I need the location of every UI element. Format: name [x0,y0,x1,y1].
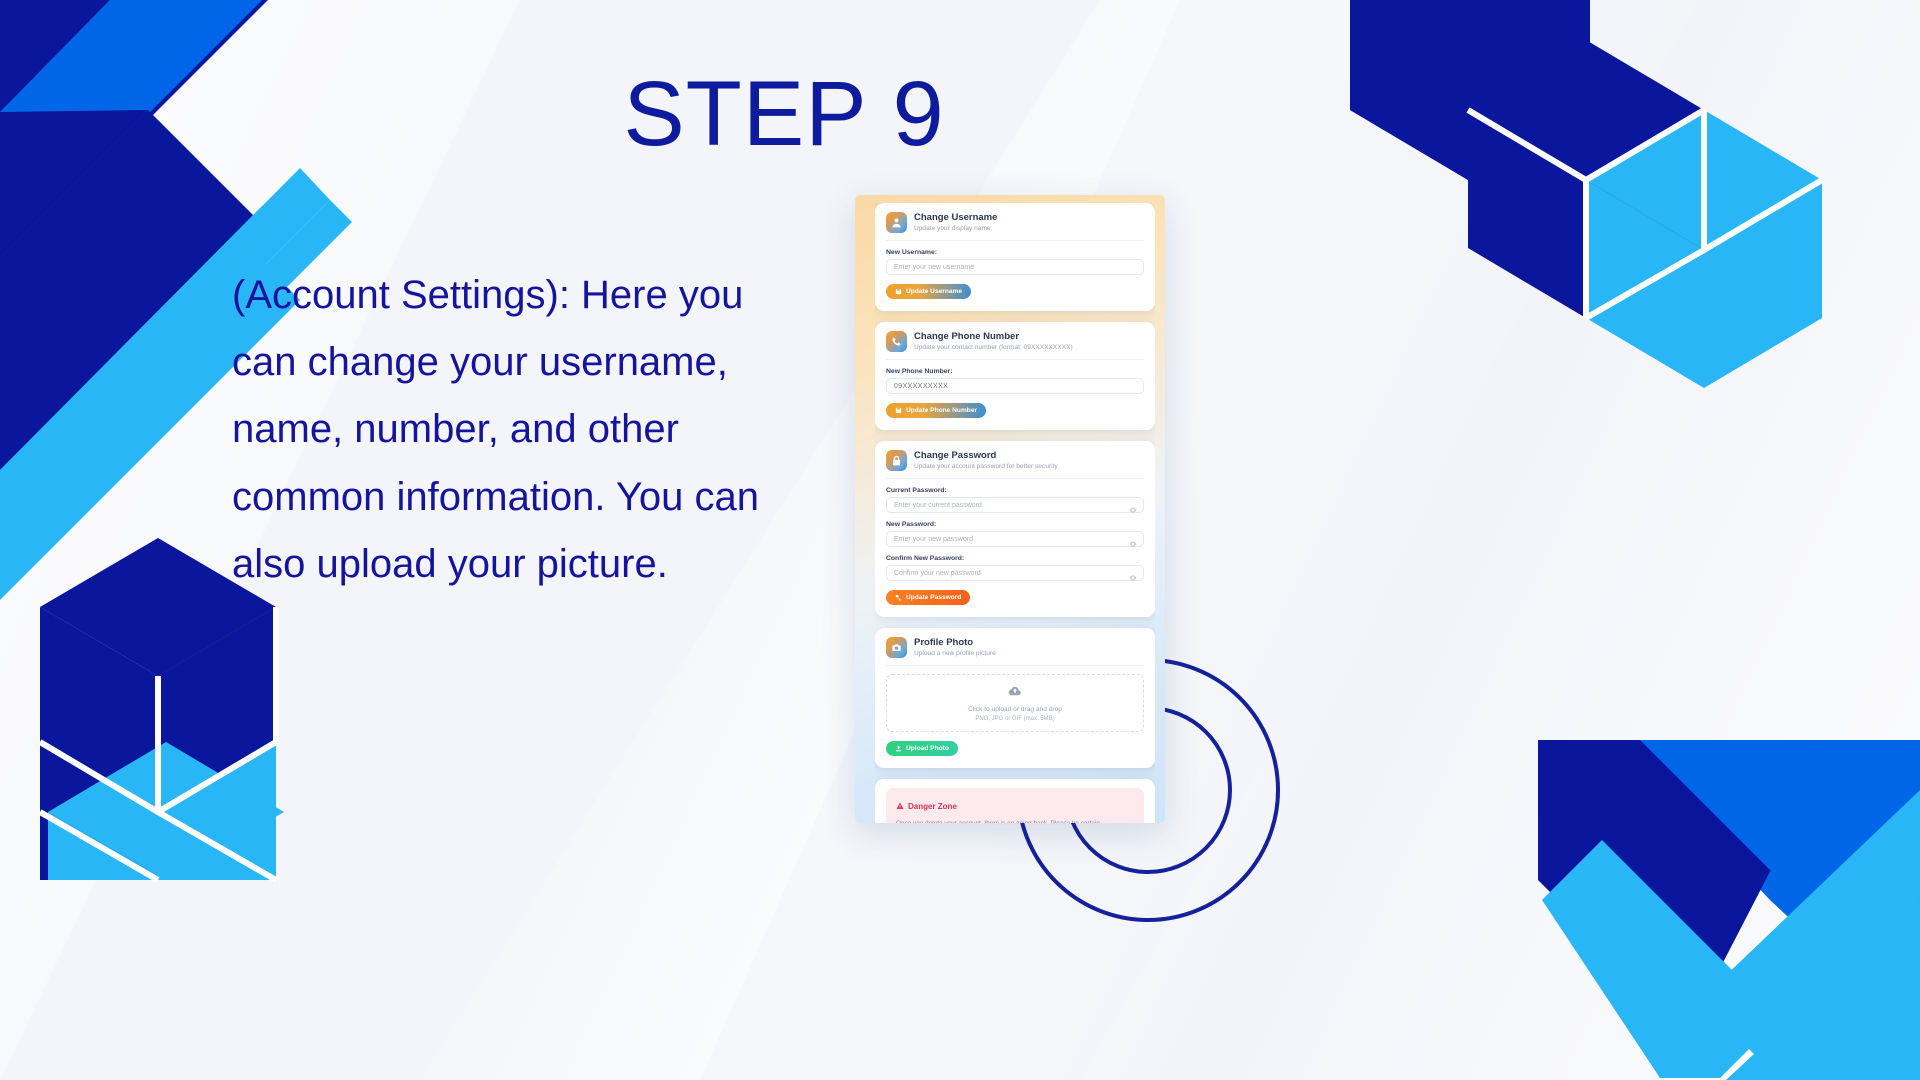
button-label: Update Password [906,594,961,601]
toggle-password-visibility-icon[interactable] [1129,569,1137,577]
toggle-password-visibility-icon[interactable] [1129,535,1137,543]
card-subtitle: Update your account password for better … [914,463,1058,471]
update-phone-button[interactable]: Update Phone Number [886,403,986,418]
field-label: New Phone Number: [886,368,1144,375]
phone-screen: Change Username Update your display name… [875,203,1155,823]
current-password-input[interactable]: Enter your current password [886,497,1144,513]
update-password-button[interactable]: Update Password [886,590,970,605]
input-placeholder: Enter your new password [894,536,973,543]
card-title: Change Username [914,212,997,224]
card-change-phone: Change Phone Number Update your contact … [875,322,1155,430]
upload-photo-button[interactable]: Upload Photo [886,741,958,756]
input-value: 09XXXXXXXXX [894,383,948,390]
card-header: Change Username Update your display name [886,212,1144,241]
update-username-button[interactable]: Update Username [886,284,971,299]
card-danger-zone: Danger Zone Once you delete your account… [875,779,1155,823]
warning-icon [896,797,904,815]
field-label: Current Password: [886,487,1144,494]
card-header: Change Password Update your account pass… [886,450,1144,479]
new-phone-input[interactable]: 09XXXXXXXXX [886,378,1144,394]
save-icon [895,407,902,414]
save-icon [895,288,902,295]
button-label: Upload Photo [906,745,949,752]
confirm-password-input[interactable]: Confirm your new password [886,565,1144,581]
field-label: New Password: [886,521,1144,528]
card-title: Change Password [914,450,1058,462]
dropzone-line-1: Click to upload or drag and drop [968,706,1062,713]
card-profile-photo: Profile Photo Upload a new profile pictu… [875,628,1155,768]
camera-icon [886,637,907,658]
lock-icon [886,450,907,471]
page-title: STEP 9 [0,62,1568,167]
dropzone-line-2: PNG, JPG or GIF (max. 5MB) [975,716,1054,722]
new-username-input[interactable]: Enter your new username [886,259,1144,275]
photo-dropzone[interactable]: Click to upload or drag and drop PNG, JP… [886,674,1144,732]
card-subtitle: Update your contact number (format: 09XX… [914,344,1073,352]
new-password-input[interactable]: Enter your new password [886,531,1144,547]
card-change-username: Change Username Update your display name… [875,203,1155,311]
slide-paragraph: (Account Settings): Here you can change … [232,262,792,598]
card-subtitle: Update your display name [914,225,997,233]
card-header: Change Phone Number Update your contact … [886,331,1144,360]
input-placeholder: Confirm your new password [894,570,981,577]
upload-icon [895,745,902,752]
card-subtitle: Upload a new profile picture [914,650,996,658]
phone-icon [886,331,907,352]
danger-panel: Danger Zone Once you delete your account… [886,788,1144,823]
input-placeholder: Enter your current password [894,502,982,509]
field-label: New Username: [886,249,1144,256]
cloud-upload-icon [1008,684,1022,703]
card-change-password: Change Password Update your account pass… [875,441,1155,617]
danger-title: Danger Zone [908,802,957,811]
key-icon [895,594,902,601]
card-header: Profile Photo Upload a new profile pictu… [886,637,1144,666]
button-label: Update Username [906,288,962,295]
button-label: Update Phone Number [906,407,977,414]
danger-description: Once you delete your account, there is n… [896,820,1134,823]
field-label: Confirm New Password: [886,555,1144,562]
input-placeholder: Enter your new username [894,264,974,271]
phone-mockup: Change Username Update your display name… [855,195,1165,823]
card-title: Profile Photo [914,637,996,649]
card-title: Change Phone Number [914,331,1073,343]
user-icon [886,212,907,233]
danger-header: Danger Zone [896,797,1134,815]
toggle-password-visibility-icon[interactable] [1129,501,1137,509]
